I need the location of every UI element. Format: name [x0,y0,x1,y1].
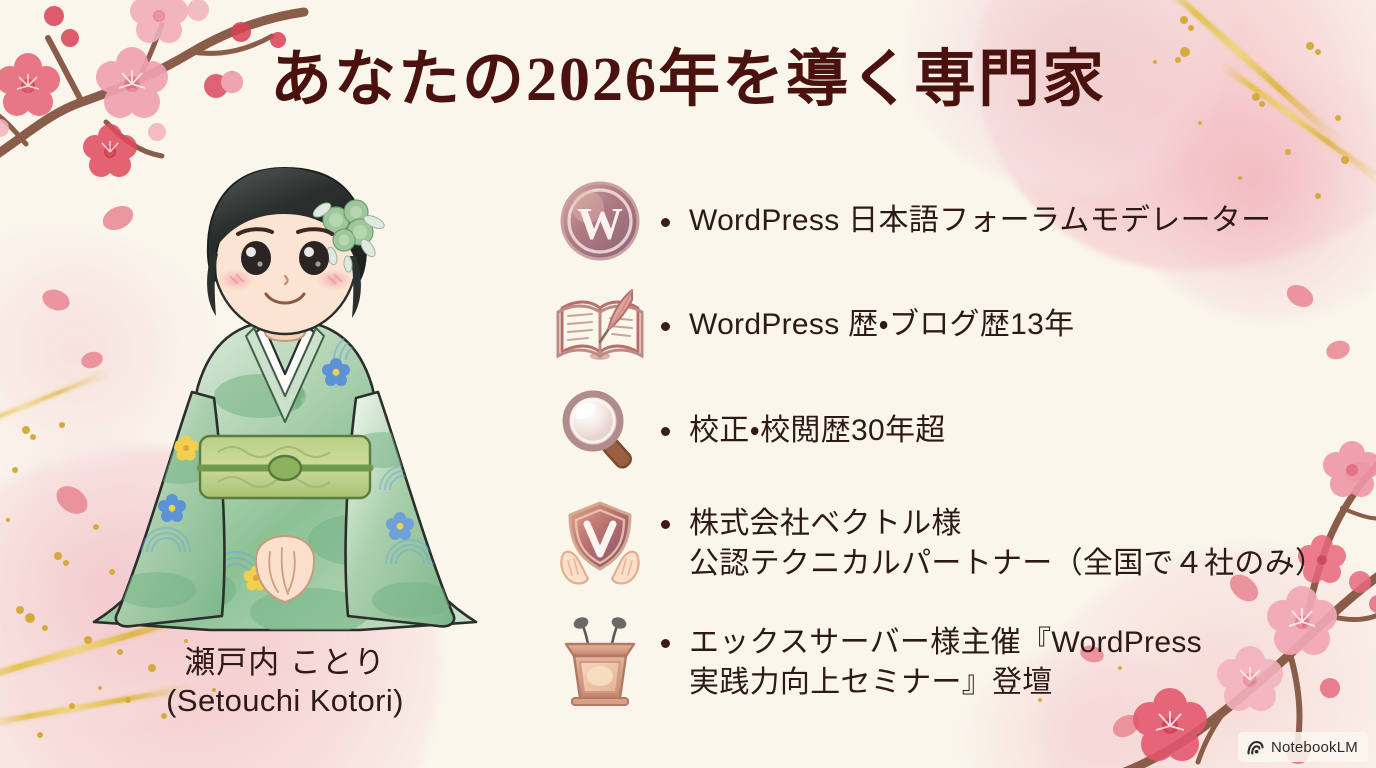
profile-name: 瀬戸内 ことり (Setouchi Kotori) [60,644,510,720]
list-item: WordPress 歴・ブログ歴13年 [545,273,1355,376]
list-item-text: 株式会社ベクトル様 公認テクニカルパートナー（全国で４社のみ） [655,502,1355,585]
page-title: あなたの2026年を導く専門家 [0,48,1376,113]
list-item: エックスサーバー様主催『WordPress 実践力向上セミナー』登壇 [545,602,1355,722]
credentials-list: W WordPress 日本語フォーラムモデレーター [545,168,1355,722]
list-item: 株式会社ベクトル様 公認テクニカルパートナー（全国で４社のみ） [545,484,1355,602]
list-item-line: 実践力向上セミナー』登壇 [689,663,1355,704]
podium-microphone-icon [545,616,655,708]
profile-name-en: (Setouchi Kotori) [60,682,510,720]
list-item-line: 株式会社ベクトル様 [689,504,1355,545]
bullet-dot [661,322,670,331]
magnifying-glass-icon [545,389,655,471]
bullet-dot [661,427,670,436]
notebooklm-arch-icon [1246,738,1265,757]
kimono-woman-illustration [60,160,510,650]
list-item-text: WordPress 歴・ブログ歴13年 [655,303,1355,346]
bullet-dot [661,639,670,648]
list-item-line: 公認テクニカルパートナー（全国で４社のみ） [689,544,1355,585]
bullet-dot [661,218,670,227]
open-book-quill-icon [545,286,655,364]
list-item-text: エックスサーバー様主催『WordPress 実践力向上セミナー』登壇 [655,621,1355,704]
list-item-line: WordPress 歴・ブログ歴13年 [689,305,1355,346]
wordpress-logo-icon: W [545,179,655,263]
list-item-text: WordPress 日本語フォーラムモデレーター [655,199,1355,242]
list-item: W WordPress 日本語フォーラムモデレーター [545,168,1355,273]
bullet-dot [661,520,670,529]
svg-text:W: W [577,198,623,249]
slide-canvas: あなたの2026年を導く専門家 [0,0,1376,768]
list-item-line: エックスサーバー様主催『WordPress [689,623,1355,664]
notebooklm-watermark: NotebookLM [1238,732,1368,762]
list-item: 校正・校閲歴30年超 [545,376,1355,484]
list-item-text: 校正・校閲歴30年超 [655,409,1355,452]
list-item-line: 校正・校閲歴30年超 [689,411,1355,452]
list-item-line: WordPress 日本語フォーラムモデレーター [689,201,1355,242]
profile-column: 瀬戸内 ことり (Setouchi Kotori) [60,160,510,720]
shield-hands-icon [545,497,655,589]
watermark-label: NotebookLM [1271,739,1358,756]
